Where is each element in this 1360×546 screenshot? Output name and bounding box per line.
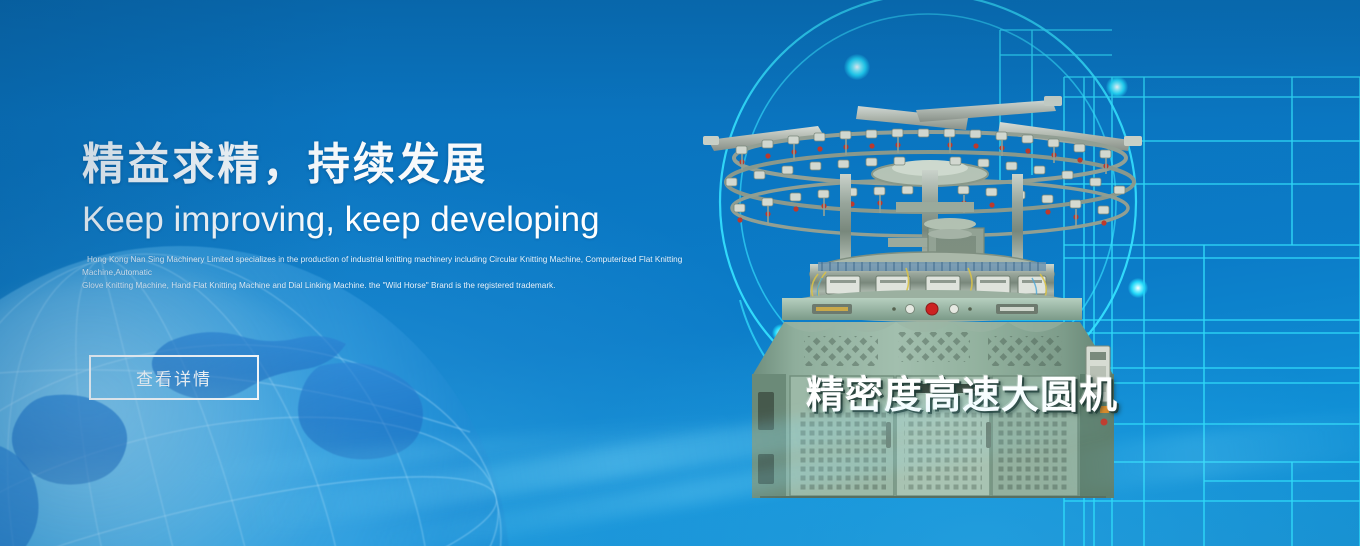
company-description: Hong Kong Nan Sing Machinery Limited spe…: [82, 253, 707, 293]
hero-copy: 精益求精，持续发展 Keep improving, keep developin…: [82, 140, 742, 293]
view-details-button[interactable]: 查看详情: [89, 355, 259, 400]
description-line-2: Glove Knitting Machine, Hand Flat Knitti…: [82, 279, 707, 292]
hero-banner: 精益求精，持续发展 Keep improving, keep developin…: [0, 0, 1360, 546]
globe-highlight: [0, 272, 365, 546]
product-caption: 精密度高速大圆机: [806, 364, 1118, 419]
light-streak: [169, 417, 728, 484]
glow-dot-icon: [844, 54, 870, 80]
page-subtitle: Keep improving, keep developing: [82, 201, 742, 240]
page-title: 精益求精，持续发展: [82, 140, 716, 189]
circular-knitting-machine-image: [700, 78, 1170, 498]
description-line-1: Hong Kong Nan Sing Machinery Limited spe…: [82, 253, 707, 280]
